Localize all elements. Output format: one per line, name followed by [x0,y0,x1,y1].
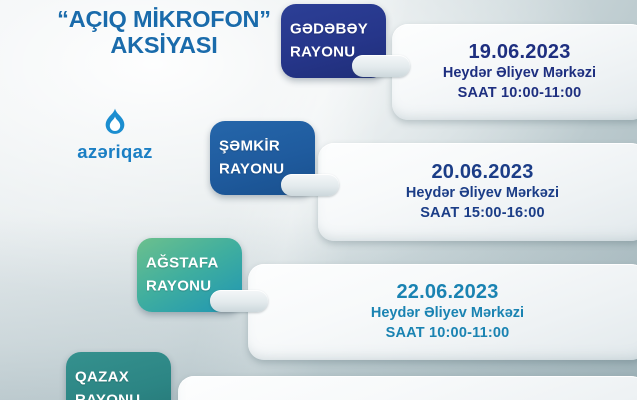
event-date: 19.06.2023 [400,40,637,64]
event-card[interactable]: 19.06.2023 Heydər Əliyev Mərkəzi SAAT 10… [392,24,637,120]
event-time: SAAT 10:00-11:00 [256,324,637,344]
link-connector [281,174,339,196]
page-title: “AÇIQ MİKROFON” AKSİYASI [14,6,314,59]
district-tag-qazax[interactable]: QAZAX RAYONU [66,352,171,400]
link-connector [352,55,410,77]
event-card[interactable]: 20.06.2023 Heydər Əliyev Mərkəzi SAAT 15… [318,143,637,241]
flame-icon [102,108,128,138]
event-card[interactable]: 22.06.2023 Heydər Əliyev Mərkəzi SAAT 10… [248,264,637,360]
page-title-line-2: AKSİYASI [14,32,314,58]
brand-wordmark: azəriqaz [60,141,170,163]
event-venue: Heydər Əliyev Mərkəzi [326,185,637,205]
event-date: 22.06.2023 [256,280,637,304]
poster-canvas: “AÇIQ MİKROFON” AKSİYASI azəriqaz 19.06.… [0,0,637,400]
district-name: QAZAX [75,367,162,390]
page-title-line-1: “AÇIQ MİKROFON” [14,6,314,32]
event-venue: Heydər Əliyev Mərkəzi [256,305,637,325]
district-name: AĞSTAFA [146,253,233,276]
event-date: 20.06.2023 [326,160,637,184]
district-suffix: RAYONU [75,389,162,400]
event-time: SAAT 15:00-16:00 [326,204,637,224]
district-name: ŞƏMKİR [219,136,306,159]
event-card[interactable] [178,376,637,400]
link-connector [210,290,268,312]
event-venue: Heydər Əliyev Mərkəzi [400,65,637,85]
schedule-row: 22.06.2023 Heydər Əliyev Mərkəzi SAAT 10… [0,232,637,352]
azeriqaz-logo: azəriqaz [60,108,170,163]
event-time: SAAT 10:00-11:00 [400,84,637,104]
